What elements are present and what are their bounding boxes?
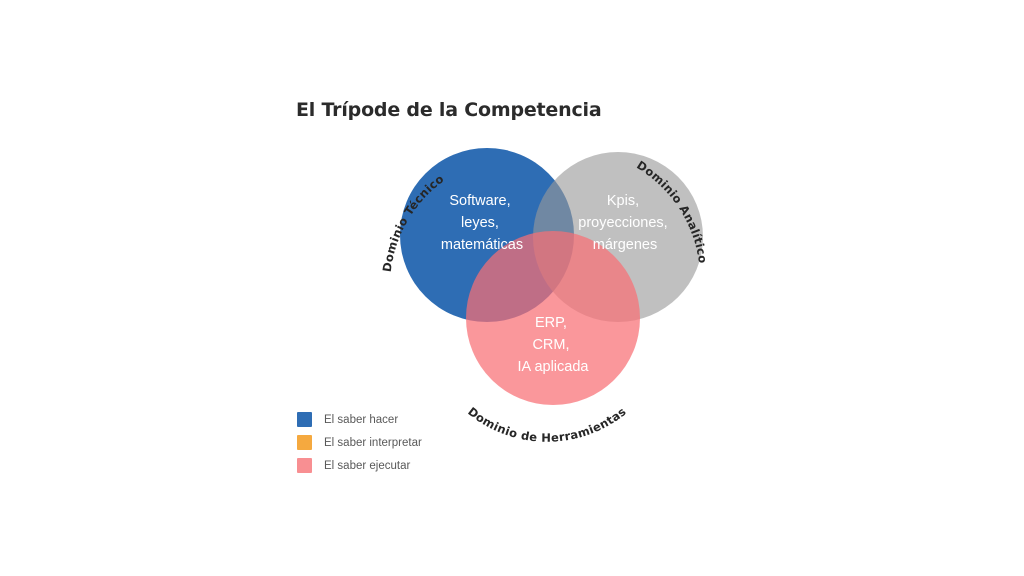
legend-item-saber-ejecutar[interactable]: El saber ejecutar [297,454,467,477]
slide-canvas: El Trípode de la Competencia Software, l… [0,0,1024,576]
legend-swatch-orange [297,435,312,450]
legend-label-saber-ejecutar: El saber ejecutar [324,460,410,472]
legend-label-saber-hacer: El saber hacer [324,414,398,426]
venn-label-herramientas-line-3: IA aplicada [518,359,590,375]
venn-diagram: Software, leyes, matemáticas Kpis, proye… [330,110,750,450]
venn-label-analitico-line-3: márgenes [593,237,657,253]
venn-arc-label-herramientas-text: Dominio de Herramientas [465,404,628,445]
legend-swatch-blue [297,412,312,427]
venn-label-tecnico-line-1: Software, [449,193,510,209]
legend-item-saber-hacer[interactable]: El saber hacer [297,408,467,431]
venn-label-herramientas-line-2: CRM, [532,337,569,353]
legend-label-saber-interpretar: El saber interpretar [324,437,422,449]
venn-label-analitico-line-1: Kpis, [607,193,639,209]
venn-label-analitico-line-2: proyecciones, [578,215,667,231]
legend-swatch-pink [297,458,312,473]
legend-item-saber-interpretar[interactable]: El saber interpretar [297,431,467,454]
venn-arc-label-herramientas: Dominio de Herramientas [465,404,628,445]
venn-label-tecnico-line-3: matemáticas [441,237,523,253]
venn-label-herramientas-line-1: ERP, [535,315,567,331]
legend: El saber hacer El saber interpretar El s… [297,408,467,477]
venn-label-tecnico-line-2: leyes, [461,215,499,231]
